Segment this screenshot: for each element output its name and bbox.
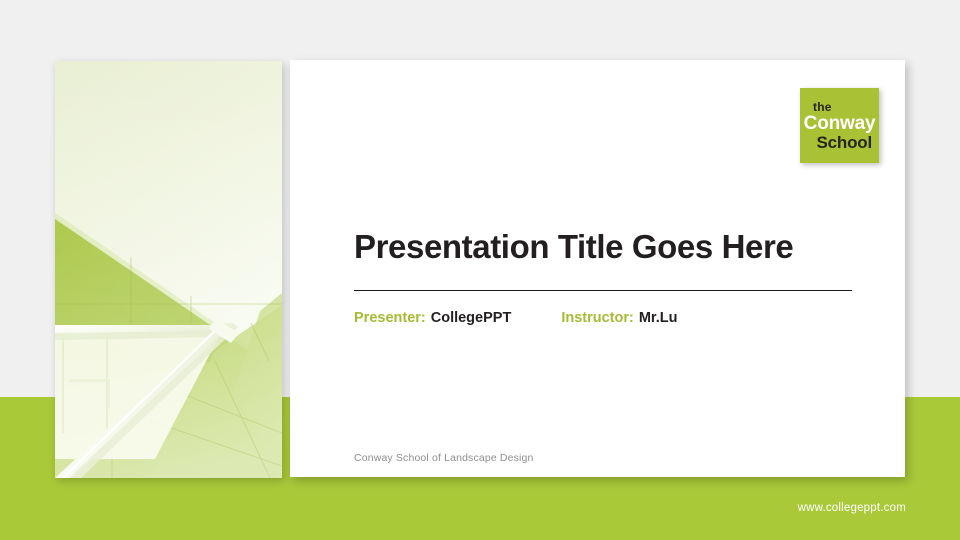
footer-url-text: www.collegeppt.com [798,502,906,514]
logo-text-the: the [813,101,832,113]
instructor-label: Instructor: [561,310,634,326]
architectural-photo-graphic [55,61,282,478]
cover-photo-panel [55,61,282,478]
presenter-label: Presenter: [354,310,426,326]
instructor-value: Mr.Lu [639,310,678,326]
presenter-group: Presenter: CollegePPT [354,310,511,326]
title-divider-rule [354,290,852,291]
page-title: Presentation Title Goes Here [354,228,793,266]
logo-text-school: School [817,134,872,151]
logo-text-conway: Conway [804,114,876,133]
conway-school-logo[interactable]: the Conway School [800,88,879,163]
instructor-group: Instructor: Mr.Lu [561,310,677,326]
slide-canvas: www.collegeppt.com [0,0,960,540]
credits-row: Presenter: CollegePPT Instructor: Mr.Lu [354,310,677,326]
card-caption: Conway School of Landscape Design [354,452,533,464]
presenter-value: CollegePPT [431,310,512,326]
